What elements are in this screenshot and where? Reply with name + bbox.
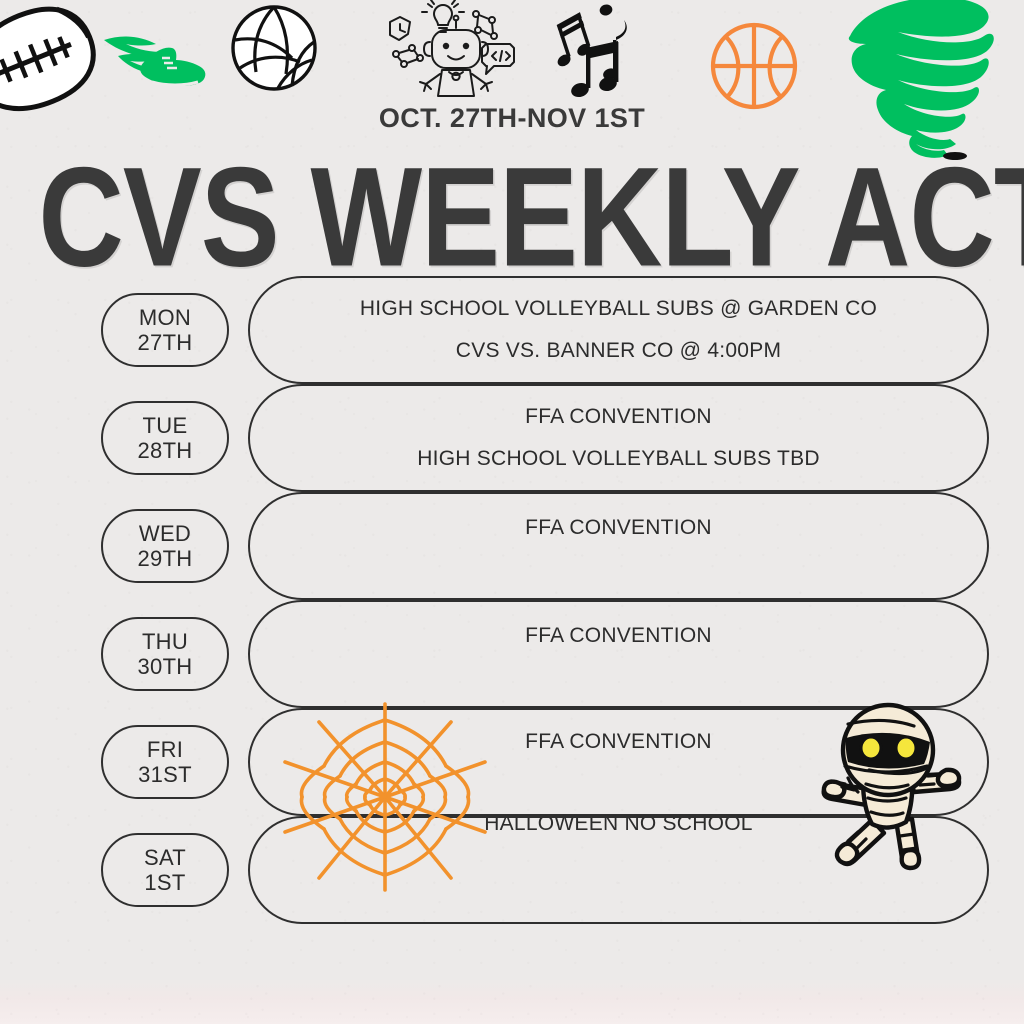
day-pill-sat[interactable]: SAT 1ST: [101, 833, 229, 907]
day-number: 30TH: [138, 654, 193, 679]
stem-robot-icon: [382, 0, 530, 98]
day-of-week: WED: [139, 521, 191, 546]
event-bar-thu[interactable]: FFA CONVENTION: [248, 600, 989, 708]
schedule-row: TUE 28TH FFA CONVENTION HIGH SCHOOL VOLL…: [0, 384, 1024, 492]
day-pill-thu[interactable]: THU 30TH: [101, 617, 229, 691]
schedule-row: SAT 1ST: [0, 816, 1024, 924]
basketball-icon: [706, 18, 802, 114]
winged-track-shoe-icon: [100, 22, 210, 92]
schedule-row: WED 29TH FFA CONVENTION: [0, 492, 1024, 600]
event-line: CVS VS. BANNER CO @ 4:00PM: [456, 339, 781, 363]
day-of-week: FRI: [147, 737, 183, 762]
day-pill-mon[interactable]: MON 27TH: [101, 293, 229, 367]
event-line: FFA CONVENTION: [525, 624, 712, 648]
event-bar-sat[interactable]: [248, 816, 989, 924]
event-line: HIGH SCHOOL VOLLEYBALL SUBS @ GARDEN CO: [360, 297, 877, 321]
date-range: OCT. 27TH-NOV 1ST: [0, 103, 1024, 134]
day-number: 1ST: [144, 870, 185, 895]
page-title: CVS WEEKLY ACTIVITIES: [38, 146, 1017, 288]
day-of-week: SAT: [144, 845, 186, 870]
music-notes-icon: [546, 0, 656, 102]
day-of-week: THU: [142, 629, 188, 654]
day-of-week: MON: [139, 305, 191, 330]
football-icon: [0, 6, 102, 114]
day-number: 28TH: [138, 438, 193, 463]
day-pill-fri[interactable]: FRI 31ST: [101, 725, 229, 799]
event-line: FFA CONVENTION: [525, 405, 712, 429]
weekly-activities-poster: OCT. 27TH-NOV 1ST CVS WEEKLY ACTIVITIES …: [0, 0, 1024, 1024]
day-number: 27TH: [138, 330, 193, 355]
weekly-schedule: MON 27TH HIGH SCHOOL VOLLEYBALL SUBS @ G…: [0, 276, 1024, 924]
schedule-row: FRI 31ST FFA CONVENTION HALLOWEEN NO SCH…: [0, 708, 1024, 816]
event-bar-fri[interactable]: FFA CONVENTION HALLOWEEN NO SCHOOL: [248, 708, 989, 816]
day-pill-wed[interactable]: WED 29TH: [101, 509, 229, 583]
day-number: 29TH: [138, 546, 193, 571]
event-bar-wed[interactable]: FFA CONVENTION: [248, 492, 989, 600]
schedule-row: THU 30TH FFA CONVENTION: [0, 600, 1024, 708]
event-line: FFA CONVENTION: [525, 516, 712, 540]
day-number: 31ST: [138, 762, 192, 787]
tornado-mascot-icon: [824, 0, 1006, 160]
event-bar-tue[interactable]: FFA CONVENTION HIGH SCHOOL VOLLEYBALL SU…: [248, 384, 989, 492]
event-line: HIGH SCHOOL VOLLEYBALL SUBS TBD: [417, 447, 820, 471]
day-pill-tue[interactable]: TUE 28TH: [101, 401, 229, 475]
day-of-week: TUE: [143, 413, 188, 438]
event-line: FFA CONVENTION: [525, 730, 712, 754]
volleyball-icon: [228, 2, 320, 94]
